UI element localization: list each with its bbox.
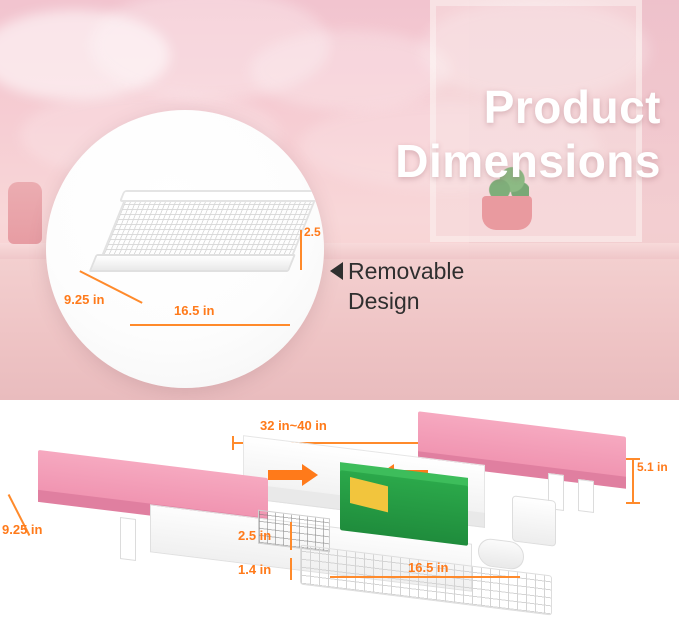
- computer-mouse: [478, 537, 524, 571]
- plant-pot: [482, 196, 532, 230]
- headline-line-2: Dimensions: [395, 134, 661, 188]
- tray-front-rail: [89, 254, 296, 272]
- keyboard-clearance-line: [290, 558, 292, 580]
- span-tick-left: [232, 436, 234, 450]
- tray-back-rail: [119, 190, 322, 202]
- product-dimensions-infographic: Product Dimensions 9.25 in 16.5 in 2.5 i…: [0, 0, 679, 620]
- inset-width-label: 16.5 in: [174, 303, 214, 318]
- inset-height-label: 2.5 in: [304, 225, 324, 239]
- callout-line-1: Removable: [348, 256, 464, 286]
- removable-design-callout: Removable Design: [348, 256, 464, 316]
- leg-right-back: [578, 479, 594, 513]
- keyboard-clearance-label: 1.4 in: [238, 562, 271, 577]
- smartphone: [512, 495, 556, 546]
- removable-tray-illustration: [91, 196, 314, 282]
- inset-depth-label: 9.25 in: [64, 292, 104, 307]
- depth-label: 9.25 in: [2, 522, 42, 537]
- height-dimension-line: [632, 458, 634, 504]
- headline-line-1: Product: [395, 80, 661, 134]
- height-dimension-line: [300, 230, 302, 270]
- lifestyle-background: Product Dimensions 9.25 in 16.5 in 2.5 i…: [0, 0, 679, 400]
- height-label: 5.1 in: [637, 460, 668, 474]
- dimension-diagram: 32 in~40 in 5.1 in: [0, 400, 679, 620]
- leg-left: [120, 517, 136, 561]
- page-title: Product Dimensions: [395, 80, 661, 188]
- drawer-width-dimension-line: [330, 576, 520, 578]
- drawer-height-dimension-line: [290, 522, 292, 550]
- drawer-height-label: 2.5 in: [238, 528, 271, 543]
- span-label: 32 in~40 in: [260, 418, 327, 433]
- left-pointing-triangle-icon: [330, 262, 343, 280]
- tray-inset-circle: 9.25 in 16.5 in 2.5 in: [46, 110, 324, 388]
- height-tick-bottom: [626, 502, 640, 504]
- width-dimension-line: [130, 324, 290, 326]
- callout-line-2: Design: [348, 286, 464, 316]
- vase-tall: [8, 182, 42, 244]
- green-box-label: [350, 477, 388, 512]
- tray-mesh-top: [99, 196, 318, 262]
- drawer-width-label: 16.5 in: [408, 560, 448, 575]
